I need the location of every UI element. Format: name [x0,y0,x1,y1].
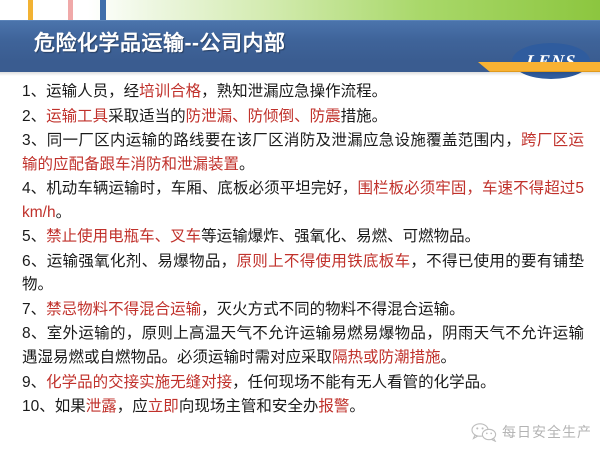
highlighted-text: 化学品的交接实施无缝对接 [46,374,232,391]
list-item-text: 运输强氧化剂、易爆物品， [47,253,237,270]
list-item-number: 2、 [22,108,46,125]
page-title: 危险化学品运输--公司内部 [34,27,286,57]
highlighted-text: 防泄漏、防倾倒、防震 [186,108,341,125]
list-item-text: 措施。 [341,108,388,125]
list-item-text: 如果 [55,398,86,415]
list-item-number: 9、 [22,374,46,391]
list-item: 1、运输人员，经培训合格，熟知泄漏应急操作流程。 [22,80,584,104]
list-item-text: 。 [349,398,365,415]
top-decoration-strip [0,0,600,20]
list-item: 5、禁止使用电瓶车、叉车等运输爆炸、强氧化、易燃、可燃物品。 [22,225,584,249]
list-item: 3、同一厂区内运输的路线要在该厂区消防及泄漏应急设施覆盖范围内，跨厂区运输的应配… [22,129,584,176]
highlighted-text: 运输工具 [46,108,108,125]
tick-mark-blue [100,0,106,20]
list-item-number: 6、 [22,253,47,270]
tick-mark-pink [68,0,73,20]
list-item-number: 3、 [22,132,47,149]
list-item-number: 10、 [22,398,55,415]
list-item-number: 1、 [22,83,46,100]
list-item-text: 运输人员，经 [46,83,139,100]
green-gradient-band [88,0,600,20]
highlighted-text: 禁止使用电瓶车、叉车 [46,228,201,245]
highlighted-text: 隔热或防潮措施 [332,349,441,366]
list-item: 2、运输工具采取适当的防泄漏、防倾倒、防震措施。 [22,105,584,129]
list-item-text: ，任何现场不能有无人看管的化学品。 [232,374,496,391]
list-item: 7、禁忌物料不得混合运输，灭火方式不同的物料不得混合运输。 [22,298,584,322]
list-item: 10、如果泄露，应立即向现场主管和安全办报警。 [22,395,584,419]
list-item: 4、机动车辆运输时，车厢、底板必须平坦完好，围栏板必须牢固，车速不得超过5km/… [22,177,584,224]
watermark-text: 每日安全生产 [502,422,592,442]
list-item-text: 。 [56,204,72,221]
tick-mark-orange [28,0,33,20]
slide-canvas: 危险化学品运输--公司内部 LENS 1、运输人员，经培训合格，熟知泄漏应急操作… [0,0,600,450]
yellow-stripe-notch [0,62,490,72]
list-item-text: ，灭火方式不同的物料不得混合运输。 [201,301,465,318]
content-list: 1、运输人员，经培训合格，熟知泄漏应急操作流程。2、运输工具采取适当的防泄漏、防… [22,80,584,420]
title-bar: 危险化学品运输--公司内部 LENS [0,20,600,62]
highlighted-text: 禁忌物料不得混合运输 [46,301,201,318]
list-item-text: ，应 [117,398,148,415]
list-item: 8、室外运输的，原则上高温天气不允许运输易燃易爆物品，阴雨天气不允许运输遇湿易燃… [22,322,584,369]
list-item: 9、化学品的交接实施无缝对接，任何现场不能有无人看管的化学品。 [22,371,584,395]
list-item-text: 同一厂区内运输的路线要在该厂区消防及泄漏应急设施覆盖范围内， [47,132,521,149]
list-item-number: 5、 [22,228,46,245]
wechat-icon [471,422,497,442]
list-item-text: 。 [441,349,457,366]
list-item-text: 向现场主管和安全办 [179,398,319,415]
list-item-text: 室外运输的，原则上高温天气不允许运输易燃易爆物品，阴雨天气不允许运输遇湿易燃或自… [22,325,584,366]
list-item-text: 等运输爆炸、强氧化、易燃、可燃物品。 [201,228,480,245]
list-item-number: 7、 [22,301,46,318]
list-item-text: ，熟知泄漏应急操作流程。 [201,83,387,100]
list-item: 6、运输强氧化剂、易爆物品，原则上不得使用铁底板车，不得已使用的要有铺垫物。 [22,250,584,297]
list-item-number: 8、 [22,325,47,342]
highlighted-text: 泄露 [86,398,117,415]
highlighted-text: 培训合格 [139,83,201,100]
list-item-number: 4、 [22,180,46,197]
highlighted-text: 立即 [148,398,179,415]
highlighted-text: 报警 [318,398,349,415]
stripe-drop-shadow [0,72,600,76]
list-item-text: 机动车辆运输时，车厢、底板必须平坦完好， [46,180,357,197]
watermark: 每日安全生产 [471,422,592,442]
list-item-text: 。 [239,156,255,173]
highlighted-text: 原则上不得使用铁底板车 [236,253,410,270]
list-item-text: 采取适当的 [108,108,186,125]
